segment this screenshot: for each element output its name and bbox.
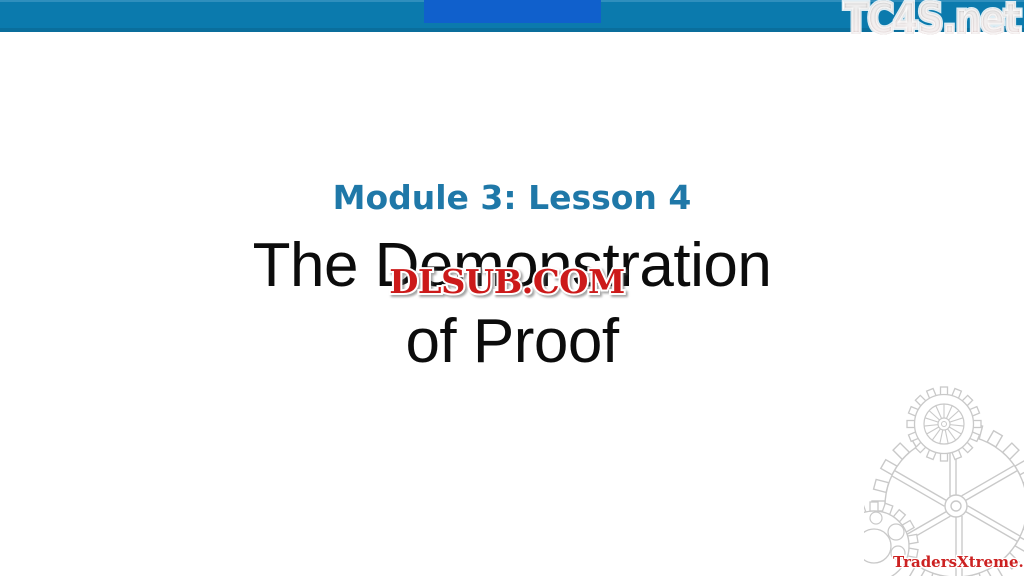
dlsub-watermark-text: DLSUB.COM: [368, 262, 645, 302]
lesson-eyebrow: Module 3: Lesson 4: [0, 178, 1024, 217]
page-title-line-2: of Proof: [0, 304, 1024, 380]
tc4s-watermark: TC4S.net: [843, 0, 1020, 40]
gear-decoration: [864, 386, 1024, 576]
dlsub-watermark: DLSUB.COM: [371, 262, 643, 304]
banner-accent-block: [424, 0, 601, 23]
slide-canvas: TC4S.net TC4S.net: [0, 0, 1024, 576]
tradersxtreme-watermark: TradersXtreme.com: [893, 553, 1024, 571]
small-gear-group: [907, 387, 981, 461]
